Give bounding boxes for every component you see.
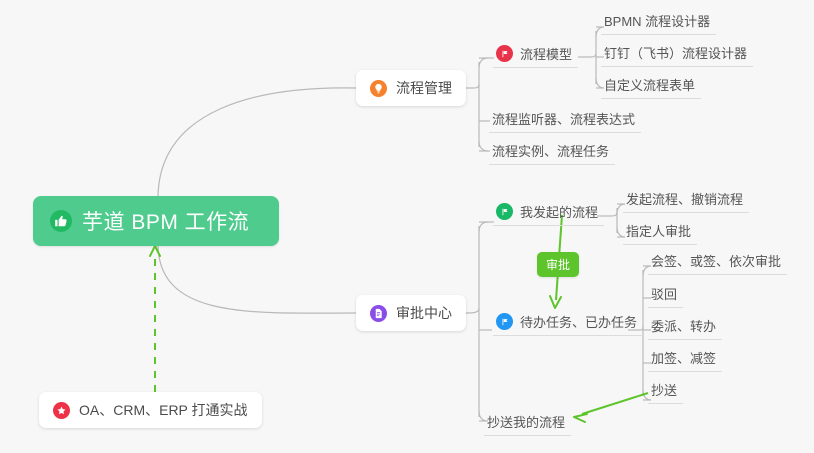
wire-ac-corner-top xyxy=(479,222,488,232)
node-assignee-approval[interactable]: 指定人审批 xyxy=(623,220,697,245)
mindmap-canvas: 芋道 BPM 工作流 流程管理 审批中心 xyxy=(0,0,814,453)
node-instance-task[interactable]: 流程实例、流程任务 xyxy=(489,140,615,165)
node-carbon-copy[interactable]: 抄送 xyxy=(648,379,683,404)
node-label: 加签、减签 xyxy=(651,348,716,367)
lightbulb-icon xyxy=(370,80,387,97)
node-label: 流程实例、流程任务 xyxy=(492,141,609,160)
node-listener-expression[interactable]: 流程监听器、流程表达式 xyxy=(489,108,641,133)
integration-label: OA、CRM、ERP 打通实战 xyxy=(79,400,248,420)
star-icon xyxy=(53,402,70,419)
flag-red-icon xyxy=(496,45,513,62)
thumbs-up-icon xyxy=(50,210,72,232)
wire-integration-to-root xyxy=(150,246,160,392)
node-label: 我发起的流程 xyxy=(520,202,598,221)
node-label: 指定人审批 xyxy=(626,221,691,240)
node-my-started-process[interactable]: 我发起的流程 xyxy=(493,201,604,226)
branch-label: 流程管理 xyxy=(396,78,452,98)
arrow-cc-to-ccmine xyxy=(574,393,648,422)
node-label: 委派、转办 xyxy=(651,316,716,335)
approve-annotation-badge: 审批 xyxy=(537,252,579,277)
node-label: 待办任务、已办任务 xyxy=(520,312,637,331)
node-label: BPMN 流程设计器 xyxy=(604,11,710,30)
node-label: 抄送我的流程 xyxy=(487,412,565,431)
root-label: 芋道 BPM 工作流 xyxy=(82,206,249,236)
integration-node[interactable]: OA、CRM、ERP 打通实战 xyxy=(39,392,262,428)
node-countersign[interactable]: 会签、或签、依次审批 xyxy=(648,250,787,275)
wire-root-to-process-management xyxy=(158,88,356,196)
node-custom-form[interactable]: 自定义流程表单 xyxy=(601,74,701,99)
node-reject[interactable]: 驳回 xyxy=(648,283,683,308)
node-dingtalk-designer[interactable]: 钉钉（飞书）流程设计器 xyxy=(601,42,753,67)
wire-root-to-approval-center xyxy=(158,246,356,313)
wire-pm-corner-bottom xyxy=(479,141,488,151)
branch-node-process-management[interactable]: 流程管理 xyxy=(356,70,466,106)
branch-node-approval-center[interactable]: 审批中心 xyxy=(356,295,466,331)
node-label: 驳回 xyxy=(651,284,677,303)
node-start-cancel-process[interactable]: 发起流程、撤销流程 xyxy=(623,188,749,213)
node-label: 自定义流程表单 xyxy=(604,75,695,94)
node-add-remove-sign[interactable]: 加签、减签 xyxy=(648,347,722,372)
node-label: 抄送 xyxy=(651,380,677,399)
node-label: 钉钉（飞书）流程设计器 xyxy=(604,43,747,62)
document-icon xyxy=(370,305,387,322)
node-label: 会签、或签、依次审批 xyxy=(651,251,781,270)
node-label: 发起流程、撤销流程 xyxy=(626,189,743,208)
node-label: 流程监听器、流程表达式 xyxy=(492,109,635,128)
node-cc-to-me[interactable]: 抄送我的流程 xyxy=(484,411,571,436)
flag-blue-icon xyxy=(496,313,513,330)
flag-green-icon xyxy=(496,203,513,220)
root-node[interactable]: 芋道 BPM 工作流 xyxy=(33,196,279,246)
node-label: 流程模型 xyxy=(520,44,572,63)
node-todo-done-task[interactable]: 待办任务、已办任务 xyxy=(493,311,643,336)
wire-pm-corner-top xyxy=(479,58,488,68)
branch-label: 审批中心 xyxy=(396,303,452,323)
node-bpmn-designer[interactable]: BPMN 流程设计器 xyxy=(601,10,716,35)
node-delegate-transfer[interactable]: 委派、转办 xyxy=(648,315,722,340)
node-process-model[interactable]: 流程模型 xyxy=(493,43,578,68)
